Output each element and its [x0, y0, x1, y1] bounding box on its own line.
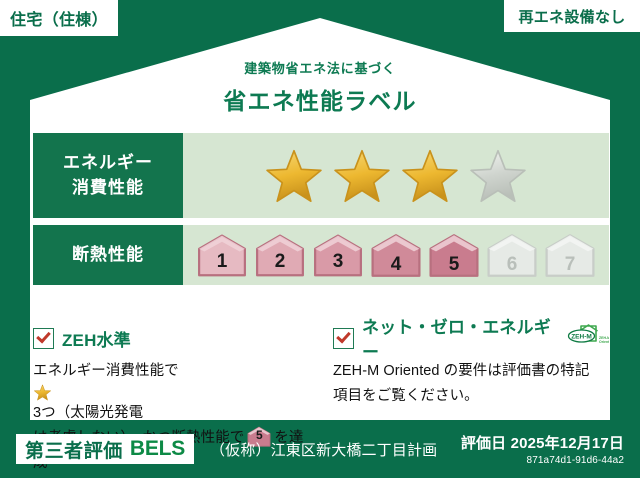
- insulation-grade-scale: 1234567: [183, 225, 609, 285]
- insulation-grade-number: 4: [369, 254, 423, 276]
- energy-label-line1: エネルギー: [63, 151, 153, 176]
- insulation-grade-badge: 6: [485, 230, 539, 280]
- net-zero-energy-checkbox[interactable]: [333, 328, 354, 349]
- zeh-standard-title: ZEH水準: [62, 326, 131, 351]
- insulation-grade-badge: 4: [369, 230, 423, 280]
- star-icon-filled: [266, 149, 322, 203]
- energy-consumption-label: エネルギー 消費性能: [33, 133, 183, 218]
- net-zero-energy-header: ネット・ゼロ・エネルギー ZEH-M ZEH-M Oriented: [333, 326, 609, 350]
- insulation-grade-badge: 1: [195, 233, 249, 277]
- svg-text:ZEH-M: ZEH-M: [571, 334, 592, 341]
- energy-star-rating: [183, 133, 609, 218]
- bels-en-label: BELS: [130, 437, 185, 461]
- energy-label-line2: 消費性能: [72, 176, 144, 201]
- insulation-label-text: 断熱性能: [72, 243, 144, 268]
- insulation-grade-number: 6: [485, 254, 539, 276]
- insulation-performance-row: 断熱性能 1234567: [33, 225, 609, 285]
- svg-text:Oriented: Oriented: [599, 340, 609, 344]
- energy-consumption-row: エネルギー 消費性能: [33, 133, 609, 218]
- bels-jp-label: 第三者評価: [25, 436, 123, 463]
- net-zero-energy-title: ネット・ゼロ・エネルギー: [362, 313, 551, 363]
- insulation-grade-number: 1: [195, 251, 249, 273]
- zeh-standard-checkbox[interactable]: [33, 328, 54, 349]
- title-subtitle: 建築物省エネ法に基づく: [0, 58, 640, 77]
- evaluation-info: 評価日 2025年12月17日 871a74d1-91d6-44a2: [461, 432, 624, 466]
- renewable-energy-tag: 再エネ設備なし: [504, 0, 640, 32]
- star-icon-empty: [470, 149, 526, 203]
- insulation-grade-badge: 2: [253, 233, 307, 277]
- net-zero-line-2: 項目をご覧ください。: [333, 384, 609, 409]
- page-title: 省エネ性能ラベル: [0, 82, 640, 116]
- insulation-grade-badge: 5: [427, 230, 481, 280]
- star-icon-filled: [34, 384, 51, 401]
- insulation-grade-number: 5: [427, 254, 481, 276]
- building-type-tag: 住宅（住棟）: [0, 0, 118, 36]
- insulation-grade-number: 2: [253, 251, 307, 273]
- insulation-label: 断熱性能: [33, 225, 183, 285]
- insulation-grade-badge: 7: [543, 230, 597, 280]
- zeh-desc-text-1: エネルギー消費性能で: [33, 363, 179, 379]
- insulation-grade-number: 7: [543, 254, 597, 276]
- net-zero-energy-description: ZEH-M Oriented の要件は評価書の特記 項目をご覧ください。: [333, 359, 609, 409]
- star-icon-filled: [402, 149, 458, 203]
- svg-text:ZEH-M: ZEH-M: [599, 336, 609, 340]
- zeh-standard-header: ZEH水準: [33, 326, 309, 350]
- zeh-description-line-1: エネルギー消費性能で3つ（太陽光発電: [33, 359, 309, 426]
- zeh-m-oriented-logo: ZEH-M ZEH-M Oriented: [563, 324, 609, 352]
- performance-table: エネルギー 消費性能 断熱性能 1234567: [33, 133, 609, 285]
- evaluation-date: 評価日 2025年12月17日: [461, 432, 624, 453]
- energy-performance-label: 住宅（住棟） 再エネ設備なし 建築物省エネ法に基づく 省エネ性能ラベル エネルギ…: [0, 0, 640, 478]
- bottom-bar: 第三者評価 BELS （仮称）江東区新大橋二丁目計画 評価日 2025年12月1…: [0, 420, 640, 478]
- zeh-desc-text-2: 3つ（太陽光発電: [33, 405, 143, 421]
- building-name: （仮称）江東区新大橋二丁目計画: [210, 439, 437, 460]
- bels-certification-chip: 第三者評価 BELS: [16, 434, 194, 464]
- net-zero-line-1: ZEH-M Oriented の要件は評価書の特記: [333, 359, 609, 384]
- star-icon-filled: [334, 149, 390, 203]
- title-block: 建築物省エネ法に基づく 省エネ性能ラベル: [0, 58, 640, 116]
- insulation-grade-number: 3: [311, 251, 365, 273]
- evaluation-id: 871a74d1-91d6-44a2: [461, 455, 624, 466]
- insulation-grade-badge: 3: [311, 233, 365, 277]
